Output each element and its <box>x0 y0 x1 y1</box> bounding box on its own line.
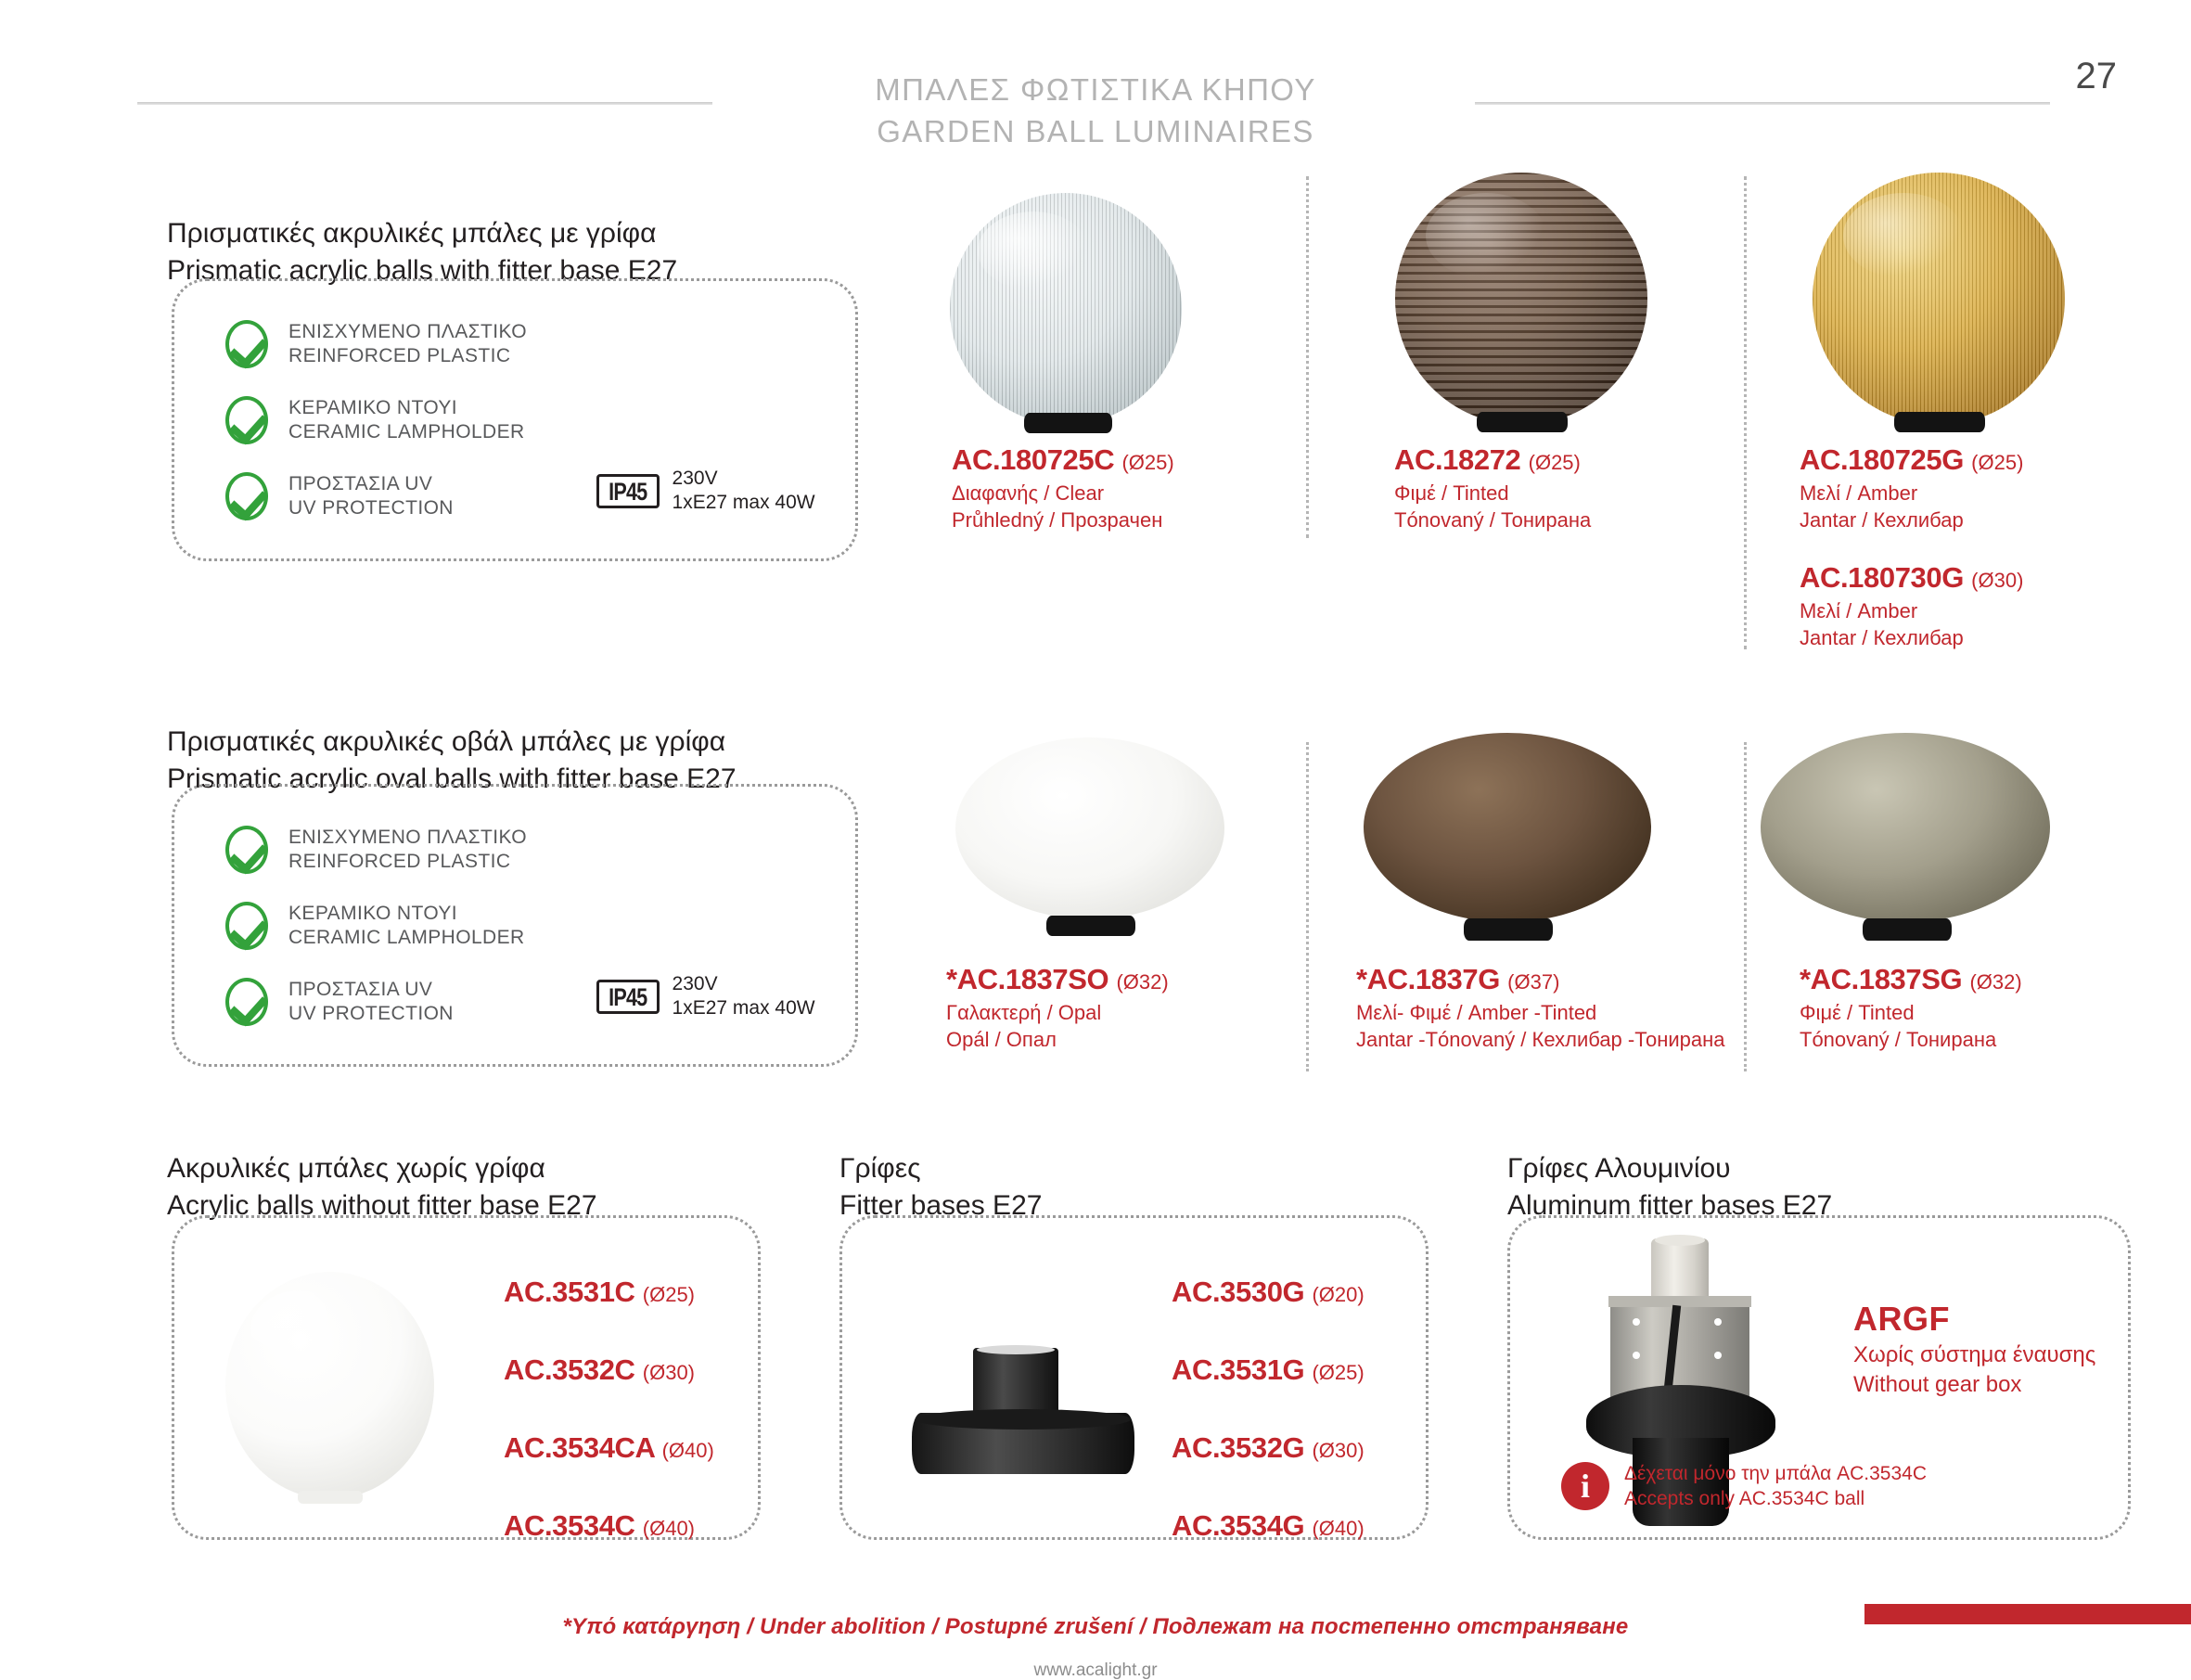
feature-label-greek: ΠΡΟΣΤΑΣΙΑ UV <box>288 978 454 1002</box>
argf-description-greek: Χωρίς σύστημα έναυσης <box>1853 1340 2095 1370</box>
feature-label-english: UV PROTECTION <box>288 496 454 520</box>
product-diameter: (Ø40) <box>662 1439 714 1462</box>
electrical-spec: 230V 1xE27 max 40W <box>673 972 815 1020</box>
feature-text: ΚΕΡΑΜΙΚΟ ΝΤΟΥΙ CERAMIC LAMPHOLDER <box>288 902 525 950</box>
bracket-hole <box>1714 1318 1722 1326</box>
product-photo-amber-ball <box>1813 165 2065 436</box>
lampholder-top <box>1655 1235 1705 1246</box>
section-2-feature-list: ΕΝΙΣΧΥΜΕΝΟ ΠΛΑΣΤΙΚΟ REINFORCED PLASTIC Κ… <box>225 826 527 1054</box>
ball-neck <box>298 1491 363 1504</box>
product-code-text: AC.180725C <box>952 443 1114 476</box>
feature-label-english: CERAMIC LAMPHOLDER <box>288 420 525 444</box>
product-photo-tinted-ball <box>1395 165 1647 436</box>
feature-item: ΕΝΙΣΧΥΜΕΝΟ ΠΛΑΣΤΙΚΟ REINFORCED PLASTIC <box>225 826 527 874</box>
product-code-text: AC.3531C <box>504 1276 635 1308</box>
product-diameter: (Ø25) <box>643 1283 695 1306</box>
bracket-hole <box>1633 1318 1640 1326</box>
aluminum-fitter-title-greek: Γρίφες Αλουμινίου <box>1507 1150 1832 1187</box>
list-item: AC.3532G (Ø30) <box>1172 1431 1365 1465</box>
voltage-label: 230V <box>673 972 815 996</box>
ip-rating-badge: IP45 <box>596 474 660 508</box>
catalog-page: ΜΠΑΛΕΣ ΦΩΤΙΣΤΙΚΑ ΚΗΠΟΥ GARDEN BALL LUMIN… <box>0 0 2191 1680</box>
product-desc-line2: Jantar / Кехлибар <box>1800 507 2023 533</box>
ball-globe <box>1813 173 2065 425</box>
check-circle-icon <box>225 902 268 950</box>
product-desc-line1: Φιμέ / Tinted <box>1394 480 1591 507</box>
product-code-text: *AC.1837SG <box>1800 963 1962 995</box>
aluminum-fitter-box: ARGF Χωρίς σύστημα έναυσης Without gear … <box>1507 1215 2131 1540</box>
fitter-skirt-rim <box>916 1409 1131 1430</box>
product-code-text: AC.180725G <box>1800 443 1964 476</box>
check-circle-icon <box>225 396 268 444</box>
fitter-bases-box: AC.3530G (Ø20) AC.3531G (Ø25) AC.3532G (… <box>839 1215 1429 1540</box>
feature-label-greek: ΕΝΙΣΧΥΜΕΝΟ ΠΛΑΣΤΙΚΟ <box>288 826 527 850</box>
product-desc-line2: Jantar / Кехлибар <box>1800 624 2023 651</box>
oval-base-cap <box>1863 918 1952 941</box>
product-code-text: AC.3534C <box>504 1509 635 1542</box>
check-circle-icon <box>225 320 268 368</box>
check-circle-icon <box>225 472 268 520</box>
feature-item: ΚΕΡΑΜΙΚΟ ΝΤΟΥΙ CERAMIC LAMPHOLDER <box>225 396 527 444</box>
column-divider <box>1744 176 1747 649</box>
product-diameter: (Ø30) <box>643 1361 695 1384</box>
product-caption-ac180725g: AC.180725G (Ø25) Μελί / Amber Jantar / К… <box>1800 443 2023 533</box>
argf-note-english: Accepts only AC.3534C ball <box>1624 1486 1927 1511</box>
feature-text: ΠΡΟΣΤΑΣΙΑ UV UV PROTECTION <box>288 472 454 520</box>
ball-base-cap <box>1024 413 1112 433</box>
list-item: AC.3534G (Ø40) <box>1172 1509 1365 1543</box>
section-1-feature-list: ΕΝΙΣΧΥΜΕΝΟ ΠΛΑΣΤΙΚΟ REINFORCED PLASTIC Κ… <box>225 320 527 548</box>
footer-note: *Υπό κατάργηση / Under abolition / Postu… <box>0 1614 2191 1640</box>
ball-base-cap <box>1894 412 1985 432</box>
product-code: *AC.1837G (Ø37) <box>1356 963 1724 996</box>
feature-label-english: UV PROTECTION <box>288 1002 454 1026</box>
fitter-bases-code-list: AC.3530G (Ø20) AC.3531G (Ø25) AC.3532G (… <box>1172 1276 1365 1587</box>
product-code: AC.180725C (Ø25) <box>952 443 1174 477</box>
list-item: AC.3531C (Ø25) <box>504 1276 714 1309</box>
product-photo-white-ball <box>225 1272 434 1504</box>
product-photo-tinted-oval <box>1761 733 2050 944</box>
section-1-feature-box: ΕΝΙΣΧΥΜΕΝΟ ΠΛΑΣΤΙΚΟ REINFORCED PLASTIC Κ… <box>172 278 858 561</box>
product-desc-line1: Φιμέ / Tinted <box>1800 999 2022 1026</box>
product-diameter: (Ø25) <box>1121 451 1173 474</box>
product-code-text: AC.3531G <box>1172 1353 1304 1386</box>
argf-note-text: Δέχεται μόνο την μπάλα AC.3534C Accepts … <box>1624 1461 1927 1511</box>
product-code: AC.18272 (Ø25) <box>1394 443 1591 477</box>
product-code-text: *AC.1837SO <box>946 963 1108 995</box>
product-caption-ac18272: AC.18272 (Ø25) Φιμέ / Tinted Tónovaný / … <box>1394 443 1591 533</box>
check-circle-icon <box>225 826 268 874</box>
product-diameter: (Ø25) <box>1529 451 1581 474</box>
feature-text: ΚΕΡΑΜΙΚΟ ΝΤΟΥΙ CERAMIC LAMPHOLDER <box>288 396 525 444</box>
highlight <box>1426 193 1547 278</box>
fitter-collar-rim <box>977 1345 1055 1354</box>
feature-label-greek: ΚΕΡΑΜΙΚΟ ΝΤΟΥΙ <box>288 396 525 420</box>
list-item: AC.3530G (Ø20) <box>1172 1276 1365 1309</box>
oval-globe <box>1761 733 2050 922</box>
product-photo-amber-tinted-oval <box>1364 733 1651 944</box>
feature-label-greek: ΠΡΟΣΤΑΣΙΑ UV <box>288 472 454 496</box>
feature-text: ΕΝΙΣΧΥΜΕΝΟ ΠΛΑΣΤΙΚΟ REINFORCED PLASTIC <box>288 826 527 874</box>
section-2-feature-box: ΕΝΙΣΧΥΜΕΝΟ ΠΛΑΣΤΙΚΟ REINFORCED PLASTIC Κ… <box>172 784 858 1067</box>
section-2-rating-block: IP45 230V 1xE27 max 40W <box>596 972 815 1020</box>
product-code-text: AC.3534G <box>1172 1509 1304 1542</box>
product-diameter: (Ø30) <box>1312 1439 1364 1462</box>
argf-description-english: Without gear box <box>1853 1370 2095 1400</box>
product-caption-ac1837so: *AC.1837SO (Ø32) Γαλακτερή / Opal Opál /… <box>946 963 1169 1053</box>
product-diameter: (Ø40) <box>1312 1517 1364 1540</box>
bracket-hole <box>1714 1352 1722 1359</box>
highlight <box>978 212 1089 290</box>
argf-description: Χωρίς σύστημα έναυσης Without gear box <box>1853 1340 2095 1400</box>
page-number: 27 <box>2076 56 2118 97</box>
product-code-text: AC.18272 <box>1394 443 1520 476</box>
footer-url: www.acalight.gr <box>0 1661 2191 1680</box>
oval-globe <box>1364 733 1651 922</box>
feature-label-greek: ΚΕΡΑΜΙΚΟ ΝΤΟΥΙ <box>288 902 525 926</box>
section-1-rating-block: IP45 230V 1xE27 max 40W <box>596 467 815 515</box>
feature-item: ΠΡΟΣΤΑΣΙΑ UV UV PROTECTION <box>225 472 527 520</box>
lamp-label: 1xE27 max 40W <box>673 491 815 515</box>
argf-code: ARGF <box>1853 1300 1950 1339</box>
fitter-bases-title: Γρίφες Fitter bases E27 <box>839 1150 1042 1225</box>
feature-label-english: REINFORCED PLASTIC <box>288 850 527 874</box>
product-desc-line1: Μελί / Amber <box>1800 480 2023 507</box>
product-caption-ac1837g: *AC.1837G (Ø37) Μελί- Φιμέ / Amber -Tint… <box>1356 963 1724 1053</box>
product-code-text: AC.3530G <box>1172 1276 1304 1308</box>
feature-item: ΚΕΡΑΜΙΚΟ ΝΤΟΥΙ CERAMIC LAMPHOLDER <box>225 902 527 950</box>
product-photo-opal-oval <box>955 737 1224 942</box>
product-desc-line2: Jantar -Tónovaný / Кехлибар -Тонирана <box>1356 1026 1724 1053</box>
product-diameter: (Ø25) <box>1312 1361 1364 1384</box>
product-diameter: (Ø25) <box>1971 451 2023 474</box>
product-desc-line1: Διαφανής / Clear <box>952 480 1174 507</box>
page-title-greek: ΜΠΑΛΕΣ ΦΩΤΙΣΤΙΚΑ ΚΗΠΟΥ <box>0 69 2191 110</box>
lamp-label: 1xE27 max 40W <box>673 996 815 1020</box>
feature-label-greek: ΕΝΙΣΧΥΜΕΝΟ ΠΛΑΣΤΙΚΟ <box>288 320 527 344</box>
column-divider <box>1744 742 1747 1071</box>
argf-note: i Δέχεται μόνο την μπάλα AC.3534C Accept… <box>1561 1461 1927 1511</box>
oval-base-cap <box>1464 918 1553 941</box>
acrylic-balls-title: Ακρυλικές μπάλες χωρίς γρίφα Acrylic bal… <box>167 1150 597 1225</box>
list-item: AC.3534C (Ø40) <box>504 1509 714 1543</box>
bracket-hole <box>1633 1352 1640 1359</box>
fitter-bases-title-greek: Γρίφες <box>839 1150 1042 1187</box>
product-diameter: (Ø20) <box>1312 1283 1364 1306</box>
product-code-text: AC.3534CA <box>504 1431 654 1464</box>
product-code: AC.180730G (Ø30) <box>1800 561 2023 595</box>
ball-base-cap <box>1477 412 1568 432</box>
feature-item: ΠΡΟΣΤΑΣΙΑ UV UV PROTECTION <box>225 978 527 1026</box>
electrical-spec: 230V 1xE27 max 40W <box>673 467 815 515</box>
acrylic-balls-title-greek: Ακρυλικές μπάλες χωρίς γρίφα <box>167 1150 597 1187</box>
argf-note-greek: Δέχεται μόνο την μπάλα AC.3534C <box>1624 1461 1927 1486</box>
ball-globe <box>950 193 1182 425</box>
acrylic-balls-box: AC.3531C (Ø25) AC.3532C (Ø30) AC.3534CA … <box>172 1215 761 1540</box>
product-diameter: (Ø30) <box>1971 569 2023 592</box>
product-diameter: (Ø32) <box>1969 970 2021 994</box>
product-code-text: *AC.1837G <box>1356 963 1500 995</box>
feature-item: ΕΝΙΣΧΥΜΕΝΟ ΠΛΑΣΤΙΚΟ REINFORCED PLASTIC <box>225 320 527 368</box>
highlight <box>250 1290 351 1367</box>
section-1-title-greek: Πρισματικές ακρυλικές μπάλες με γρίφα <box>167 215 677 252</box>
check-circle-icon <box>225 978 268 1026</box>
feature-label-english: CERAMIC LAMPHOLDER <box>288 926 525 950</box>
column-divider <box>1306 742 1309 1071</box>
product-desc-line2: Opál / Опал <box>946 1026 1169 1053</box>
product-diameter: (Ø40) <box>643 1517 695 1540</box>
ip-rating-badge: IP45 <box>596 980 660 1014</box>
page-title: ΜΠΑΛΕΣ ΦΩΤΙΣΤΙΚΑ ΚΗΠΟΥ GARDEN BALL LUMIN… <box>0 69 2191 152</box>
acrylic-balls-code-list: AC.3531C (Ø25) AC.3532C (Ø30) AC.3534CA … <box>504 1276 714 1587</box>
product-code-text: AC.3532C <box>504 1353 635 1386</box>
list-item: AC.3531G (Ø25) <box>1172 1353 1365 1387</box>
feature-text: ΕΝΙΣΧΥΜΕΝΟ ΠΛΑΣΤΙΚΟ REINFORCED PLASTIC <box>288 320 527 368</box>
product-diameter: (Ø32) <box>1116 970 1168 994</box>
oval-base-cap <box>1046 916 1135 936</box>
product-desc-line1: Μελί- Φιμέ / Amber -Tinted <box>1356 999 1724 1026</box>
product-desc-line2: Tónovaný / Тонирана <box>1800 1026 2022 1053</box>
oval-globe <box>955 737 1224 919</box>
product-photo-clear-ball <box>950 184 1182 434</box>
voltage-label: 230V <box>673 467 815 491</box>
info-icon: i <box>1561 1462 1609 1510</box>
product-caption-ac1837sg: *AC.1837SG (Ø32) Φιμέ / Tinted Tónovaný … <box>1800 963 2022 1053</box>
product-desc-line1: Μελί / Amber <box>1800 597 2023 624</box>
product-desc-line2: Tónovaný / Тонирана <box>1394 507 1591 533</box>
page-title-english: GARDEN BALL LUMINAIRES <box>0 110 2191 152</box>
product-photo-fitter-base <box>912 1348 1134 1482</box>
product-desc-line1: Γαλακτερή / Opal <box>946 999 1169 1026</box>
section-2-title-greek: Πρισματικές ακρυλικές οβάλ μπάλες με γρί… <box>167 724 737 761</box>
highlight <box>1843 193 1965 278</box>
column-divider <box>1306 176 1309 538</box>
product-code-text: AC.180730G <box>1800 561 1964 594</box>
aluminum-fitter-title: Γρίφες Αλουμινίου Aluminum fitter bases … <box>1507 1150 1832 1225</box>
product-code: *AC.1837SG (Ø32) <box>1800 963 2022 996</box>
ball-globe <box>1395 173 1647 425</box>
list-item: AC.3532C (Ø30) <box>504 1353 714 1387</box>
feature-label-english: REINFORCED PLASTIC <box>288 344 527 368</box>
product-code: AC.180725G (Ø25) <box>1800 443 2023 477</box>
product-code: *AC.1837SO (Ø32) <box>946 963 1169 996</box>
product-diameter: (Ø37) <box>1507 970 1559 994</box>
feature-text: ΠΡΟΣΤΑΣΙΑ UV UV PROTECTION <box>288 978 454 1026</box>
list-item: AC.3534CA (Ø40) <box>504 1431 714 1465</box>
product-caption-ac180725c: AC.180725C (Ø25) Διαφανής / Clear Průhle… <box>952 443 1174 533</box>
product-code-text: AC.3532G <box>1172 1431 1304 1464</box>
product-caption-ac180730g: AC.180730G (Ø30) Μελί / Amber Jantar / К… <box>1800 561 2023 651</box>
product-desc-line2: Průhledný / Прозрачен <box>952 507 1174 533</box>
ball-globe <box>225 1272 434 1499</box>
